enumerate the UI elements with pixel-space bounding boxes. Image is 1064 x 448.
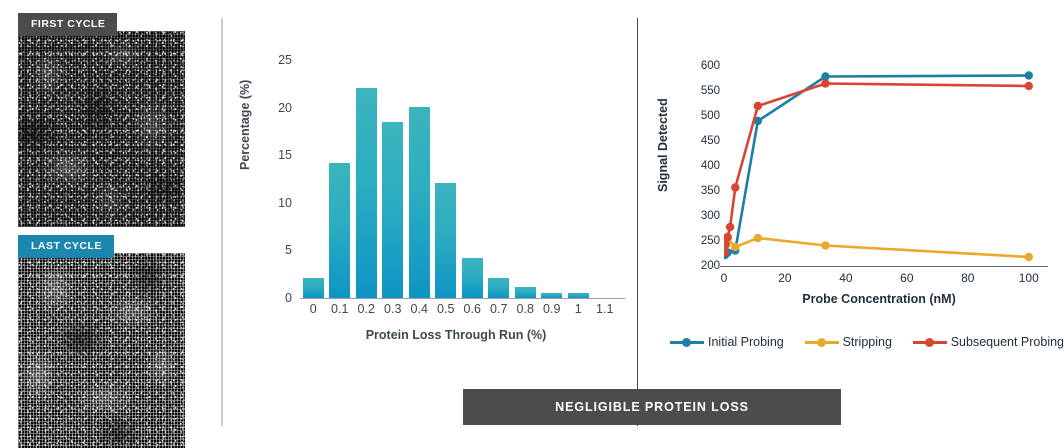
line-x-tick-label: 100 bbox=[1019, 271, 1039, 285]
line-x-tick-label: 0 bbox=[721, 271, 728, 285]
bar-slot bbox=[353, 60, 380, 298]
first-cycle-block: FIRST CYCLE bbox=[18, 13, 185, 227]
bar-y-axis-ticks: 0510152025 bbox=[246, 60, 296, 298]
data-point bbox=[1025, 82, 1033, 90]
bar-y-tick-label: 10 bbox=[278, 196, 292, 210]
bar-x-tick-label: 0.9 bbox=[539, 302, 566, 316]
line-path-subsequent-probing bbox=[725, 84, 1029, 253]
line-series-svg bbox=[724, 66, 1044, 266]
line-x-tick-label: 60 bbox=[900, 271, 913, 285]
bar-slot bbox=[592, 60, 619, 298]
last-cycle-image bbox=[18, 253, 185, 448]
legend-item-stripping[interactable]: Stripping bbox=[805, 335, 892, 349]
legend-marker-icon bbox=[913, 337, 947, 347]
line-x-tick-label: 20 bbox=[778, 271, 791, 285]
bar-plot-region bbox=[300, 60, 618, 298]
bar-x-axis-title: Protein Loss Through Run (%) bbox=[286, 328, 626, 342]
legend-item-initial-probing[interactable]: Initial Probing bbox=[670, 335, 784, 349]
data-point bbox=[754, 102, 762, 110]
data-point bbox=[1025, 253, 1033, 261]
line-chart: Signal Detected 200250300350400450500550… bbox=[648, 52, 1060, 352]
legend-label: Subsequent Probing bbox=[951, 335, 1064, 349]
legend-marker-icon bbox=[670, 337, 704, 347]
bar bbox=[329, 163, 350, 298]
speckle-blob-overlay bbox=[18, 253, 185, 448]
line-x-tick-label: 40 bbox=[839, 271, 852, 285]
bar-slot bbox=[327, 60, 354, 298]
bar bbox=[356, 88, 377, 298]
line-x-axis-title: Probe Concentration (nM) bbox=[704, 292, 1054, 306]
line-y-tick-label: 450 bbox=[701, 135, 720, 147]
line-x-axis-line bbox=[720, 266, 1048, 267]
cycle-images-panel: FIRST CYCLE LAST CYCLE bbox=[0, 0, 221, 448]
line-y-tick-label: 250 bbox=[701, 235, 720, 247]
legend-marker-icon bbox=[805, 337, 839, 347]
line-y-tick-label: 300 bbox=[701, 210, 720, 222]
bar-slot bbox=[539, 60, 566, 298]
line-y-axis-title: Signal Detected bbox=[656, 98, 670, 192]
bar bbox=[515, 287, 536, 298]
line-y-tick-label: 500 bbox=[701, 110, 720, 122]
bar-x-tick-label: 0.5 bbox=[433, 302, 460, 316]
legend-label: Initial Probing bbox=[708, 335, 784, 349]
bar-x-tick-label: 1 bbox=[565, 302, 592, 316]
line-y-tick-label: 350 bbox=[701, 185, 720, 197]
bar-x-tick-label: 0.3 bbox=[380, 302, 407, 316]
bar-slot bbox=[406, 60, 433, 298]
line-y-tick-label: 550 bbox=[701, 85, 720, 97]
bar-y-tick-label: 0 bbox=[285, 291, 292, 305]
last-cycle-block: LAST CYCLE bbox=[18, 235, 185, 448]
line-x-axis-ticks: 020406080100 bbox=[724, 271, 1044, 289]
protein-loss-panel: Percentage (%) 0510152025 00.10.20.30.40… bbox=[222, 0, 637, 448]
bar-slot bbox=[380, 60, 407, 298]
line-chart-legend: Initial ProbingStrippingSubsequent Probi… bbox=[670, 335, 1064, 349]
bar-y-tick-label: 25 bbox=[278, 53, 292, 67]
bar-series bbox=[300, 60, 618, 298]
legend-label: Stripping bbox=[843, 335, 892, 349]
first-cycle-image bbox=[18, 31, 185, 227]
data-point bbox=[754, 234, 762, 242]
bar-slot bbox=[459, 60, 486, 298]
detection-ability-panel: Signal Detected 200250300350400450500550… bbox=[638, 0, 1064, 448]
bar-x-tick-label: 0.4 bbox=[406, 302, 433, 316]
bar-y-tick-label: 20 bbox=[278, 101, 292, 115]
line-x-tick-label: 80 bbox=[961, 271, 974, 285]
bar-chart: Percentage (%) 0510152025 00.10.20.30.40… bbox=[246, 52, 628, 352]
data-point bbox=[821, 79, 829, 87]
bar-slot bbox=[565, 60, 592, 298]
bar-y-tick-label: 15 bbox=[278, 148, 292, 162]
bar-y-tick-label: 5 bbox=[285, 243, 292, 257]
data-point bbox=[726, 223, 734, 231]
bar-x-tick-label: 0.6 bbox=[459, 302, 486, 316]
bar-x-tick-label: 0.1 bbox=[327, 302, 354, 316]
data-point bbox=[821, 241, 829, 249]
line-path-stripping bbox=[725, 238, 1029, 257]
bar-slot bbox=[512, 60, 539, 298]
bar bbox=[462, 258, 483, 298]
bar bbox=[409, 107, 430, 298]
data-point bbox=[1025, 71, 1033, 79]
line-y-tick-label: 200 bbox=[701, 260, 720, 272]
bar-x-axis-line bbox=[300, 298, 625, 299]
first-cycle-badge: FIRST CYCLE bbox=[18, 13, 117, 36]
bar-slot bbox=[300, 60, 327, 298]
line-plot-region bbox=[724, 66, 1044, 266]
bar-slot bbox=[486, 60, 513, 298]
last-cycle-badge: LAST CYCLE bbox=[18, 235, 114, 258]
line-y-tick-label: 600 bbox=[701, 60, 720, 72]
bar-x-tick-label: 0.8 bbox=[512, 302, 539, 316]
bar-x-axis-ticks: 00.10.20.30.40.50.60.70.80.911.1 bbox=[300, 302, 618, 316]
line-y-tick-label: 400 bbox=[701, 160, 720, 172]
bar bbox=[488, 278, 509, 298]
data-point bbox=[731, 243, 739, 251]
figure-root: FIRST CYCLE LAST CYCLE Percentage (%) 05… bbox=[0, 0, 1064, 448]
bar bbox=[435, 183, 456, 298]
bar-x-tick-label: 0 bbox=[300, 302, 327, 316]
speckle-blob-overlay bbox=[18, 31, 185, 227]
data-point bbox=[731, 183, 739, 191]
bar-x-tick-label: 1.1 bbox=[592, 302, 619, 316]
bar-x-tick-label: 0.7 bbox=[486, 302, 513, 316]
bar bbox=[382, 122, 403, 298]
line-y-axis-ticks: 200250300350400450500550600 bbox=[674, 66, 720, 266]
bar-slot bbox=[433, 60, 460, 298]
legend-item-subsequent-probing[interactable]: Subsequent Probing bbox=[913, 335, 1064, 349]
bar-x-tick-label: 0.2 bbox=[353, 302, 380, 316]
bar bbox=[303, 278, 324, 298]
